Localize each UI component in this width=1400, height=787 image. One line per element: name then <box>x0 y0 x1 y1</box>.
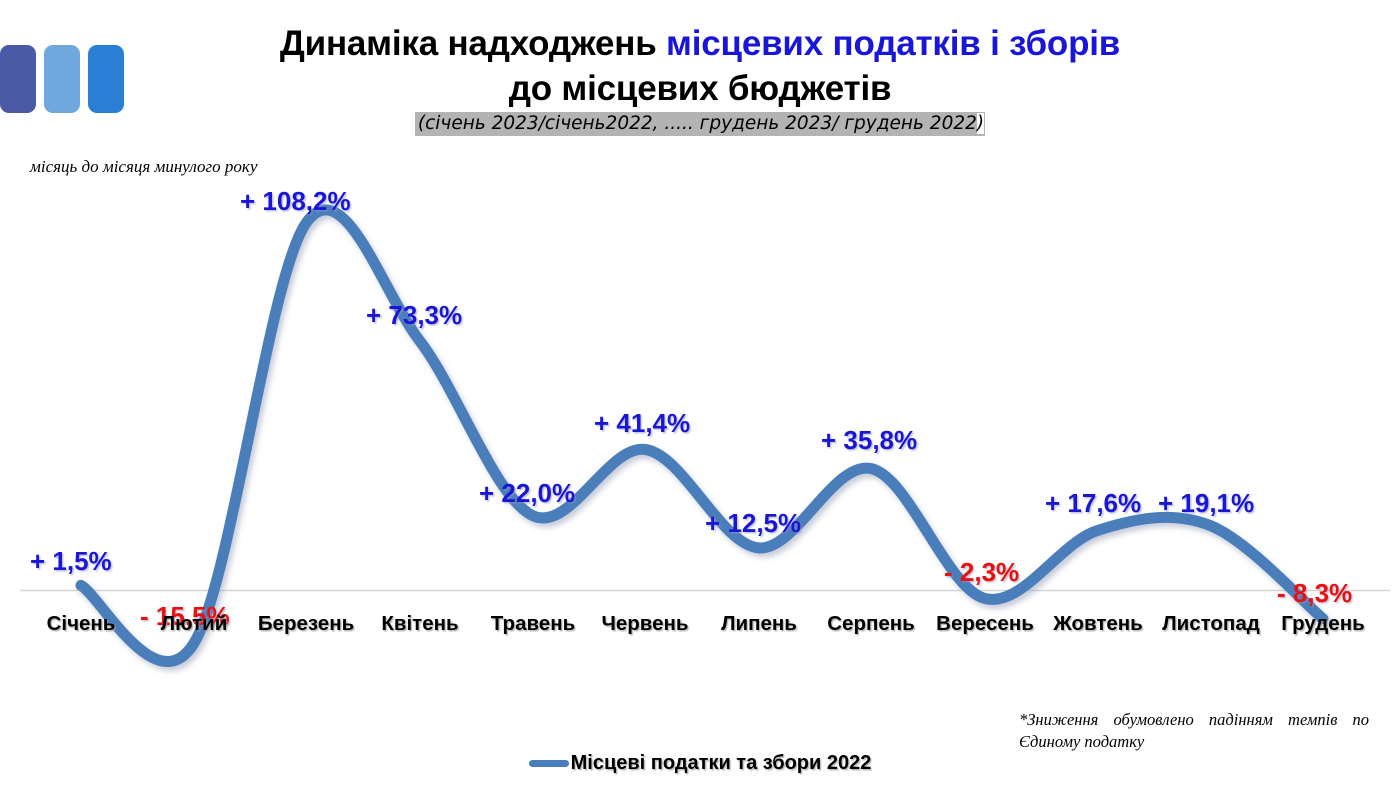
logo-block-1 <box>0 45 36 113</box>
x-axis-label-kviten: Квітень <box>381 612 458 636</box>
legend-line-swatch <box>529 760 569 767</box>
data-label-traven: + 22,0% <box>479 478 575 509</box>
x-axis-label-sichen: Січень <box>47 612 116 636</box>
logo-block-2 <box>44 45 80 113</box>
title-line-2: до місцевих бюджетів <box>140 67 1260 112</box>
data-label-zhovten: + 17,6% <box>1045 488 1141 519</box>
title-line-1: Динаміка надходжень місцевих податків і … <box>140 22 1260 67</box>
x-axis-label-traven: Травень <box>491 612 575 636</box>
x-axis-label-serpen: Серпень <box>827 612 915 636</box>
x-axis-label-lypen: Липень <box>721 612 797 636</box>
title-text-plain: Динаміка надходжень <box>280 24 666 63</box>
x-axis-label-cherven: Червень <box>601 612 688 636</box>
x-axis-label-veresen: Вересень <box>936 612 1034 636</box>
subtitle-text: (січень 2023/січень2022, ..... грудень 2… <box>418 113 977 134</box>
series-line-local-taxes <box>81 210 1323 662</box>
data-label-cherven: + 41,4% <box>594 408 690 439</box>
logo-block-3 <box>88 45 124 113</box>
data-label-kviten: + 73,3% <box>366 300 462 331</box>
data-label-lypen: + 12,5% <box>705 508 801 539</box>
data-label-sichen: + 1,5% <box>30 546 112 577</box>
data-label-veresen: - 2,3% <box>944 557 1019 588</box>
chart-legend: Місцеві податки та збори 2022 <box>0 752 1400 775</box>
x-axis-label-berezen: Березень <box>258 612 354 636</box>
footnote: *Зниження обумовлено падінням темпів по … <box>1019 709 1369 754</box>
subtitle-tail: ) <box>977 113 984 134</box>
page-title: Динаміка надходжень місцевих податків і … <box>140 22 1260 112</box>
brand-logo <box>0 45 132 113</box>
y-axis-caption: місяць до місяця минулого року <box>30 157 257 177</box>
x-axis-label-lystopad: Листопад <box>1162 612 1259 636</box>
legend-label: Місцеві податки та збори 2022 <box>571 752 872 775</box>
data-label-berezen: + 108,2% <box>240 186 351 217</box>
data-label-hruden: - 8,3% <box>1277 578 1352 609</box>
data-label-serpen: + 35,8% <box>821 425 917 456</box>
subtitle-container: (січень 2023/січень2022, ..... грудень 2… <box>140 112 1260 136</box>
x-axis-label-lyutyi: Лютий <box>161 612 228 636</box>
x-axis-label-zhovten: Жовтень <box>1053 612 1143 636</box>
data-label-lystopad: + 19,1% <box>1158 488 1254 519</box>
subtitle: (січень 2023/січень2022, ..... грудень 2… <box>415 112 985 136</box>
x-axis-label-hruden: Грудень <box>1281 612 1364 636</box>
title-text-highlight: місцевих податків і зборів <box>666 24 1120 63</box>
